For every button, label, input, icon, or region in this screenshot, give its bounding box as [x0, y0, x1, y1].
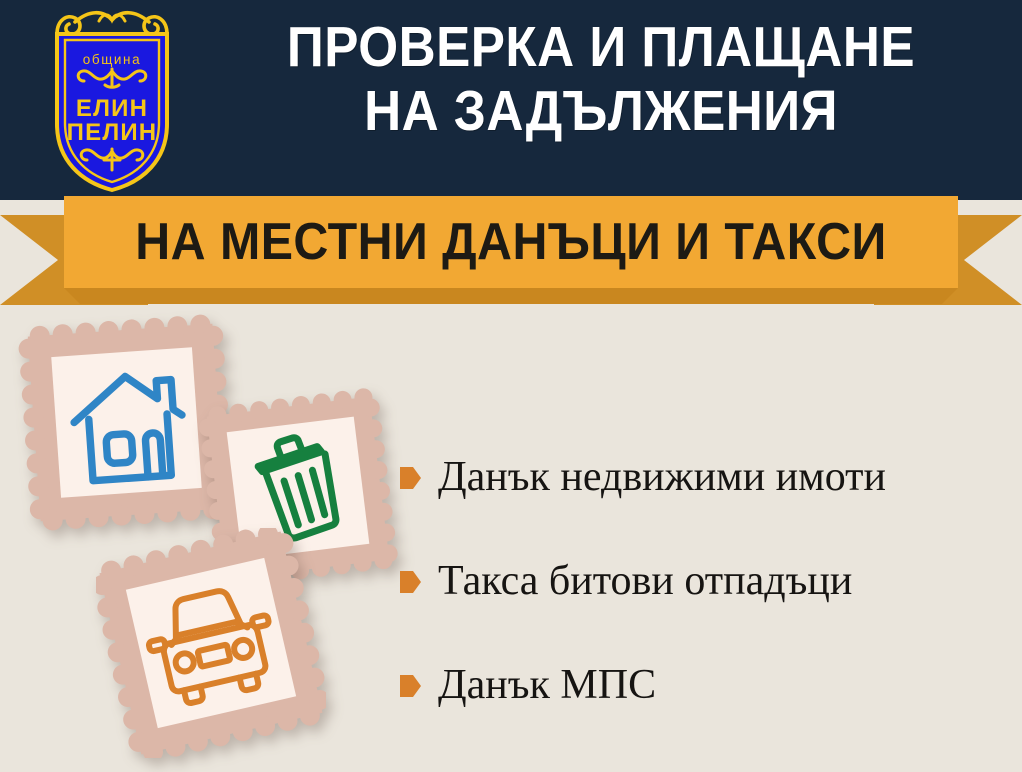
- ribbon-label: НА МЕСТНИ ДАНЪЦИ И ТАКСИ: [135, 216, 886, 268]
- svg-text:ЕЛИН: ЕЛИН: [76, 95, 148, 122]
- stamp-card-vehicle: [96, 528, 326, 758]
- ribbon-band: НА МЕСТНИ ДАНЪЦИ И ТАКСИ: [64, 196, 958, 288]
- arrow-bullet-icon: [400, 673, 422, 699]
- list-item[interactable]: Такса битови отпадъци: [400, 529, 1010, 633]
- list-item-label: Такса битови отпадъци: [438, 560, 852, 602]
- svg-text:ПЕЛИН: ПЕЛИН: [67, 119, 158, 146]
- list-item-label: Данък МПС: [438, 664, 656, 706]
- ribbon-fold-shadow: [64, 288, 958, 304]
- tax-type-list: Данък недвижими имоти Такса битови отпад…: [400, 425, 1010, 737]
- arrow-bullet-icon: [400, 569, 422, 595]
- page-title: ПРОВЕРКА И ПЛАЩАНЕ НА ЗАДЪЛЖЕНИЯ: [231, 16, 971, 144]
- arrow-bullet-icon: [400, 465, 422, 491]
- list-item[interactable]: Данък недвижими имоти: [400, 425, 1010, 529]
- list-item[interactable]: Данък МПС: [400, 633, 1010, 737]
- municipality-logo: община ЕЛИН ПЕЛИН: [37, 8, 187, 194]
- poster-header: община ЕЛИН ПЕЛИН: [0, 0, 1022, 200]
- svg-text:община: община: [83, 52, 141, 67]
- list-item-label: Данък недвижими имоти: [438, 456, 886, 498]
- subtitle-ribbon: НА МЕСТНИ ДАНЪЦИ И ТАКСИ: [0, 196, 1022, 308]
- page-title-line-1: ПРОВЕРКА И ПЛАЩАНЕ: [287, 15, 915, 79]
- page-title-line-2: НА ЗАДЪЛЖЕНИЯ: [231, 80, 971, 144]
- poster-root: община ЕЛИН ПЕЛИН: [0, 0, 1022, 772]
